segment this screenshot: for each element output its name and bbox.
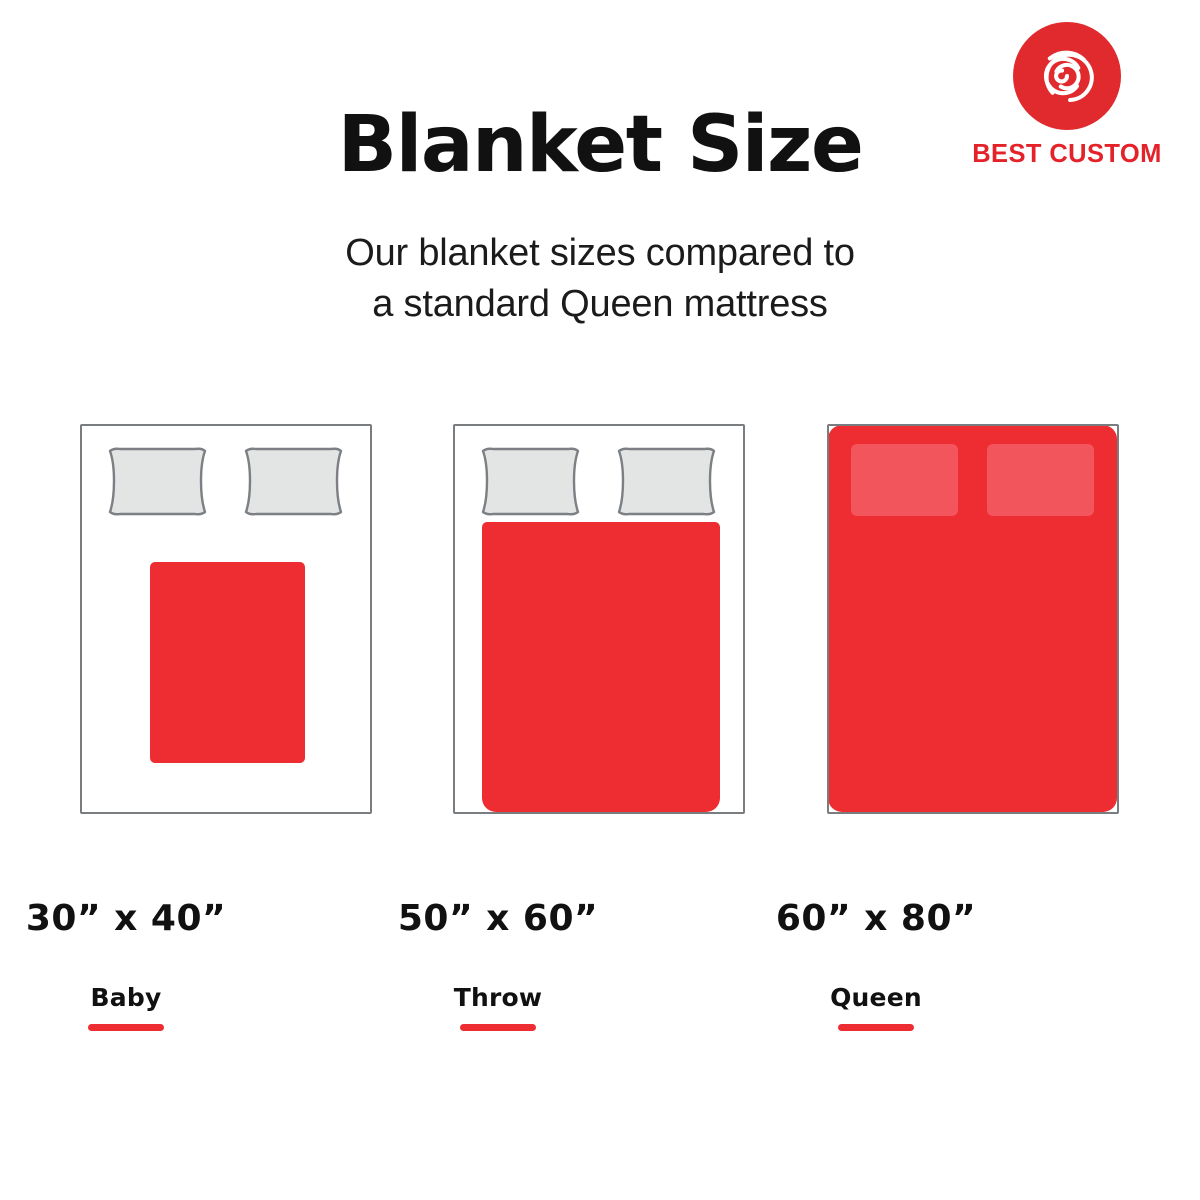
pillow-icon-right-baby — [240, 446, 347, 517]
pillow-icon-left-queen — [851, 444, 958, 516]
bed-diagram-group — [0, 424, 1200, 816]
page-title: Blanket Size — [0, 105, 1200, 187]
mattress-surface-baby — [82, 426, 370, 812]
dimension-text-baby: 30” x 40” — [26, 898, 226, 939]
bed-diagram-queen — [827, 424, 1119, 814]
blanket-overlay-throw — [482, 522, 720, 812]
size-name-queen: Queen — [830, 983, 922, 1012]
size-label-throw: 50” x 60” Throw — [298, 898, 698, 1031]
size-name-baby: Baby — [91, 983, 162, 1012]
pillow-icon-left-baby — [104, 446, 211, 517]
blanket-overlay-queen — [829, 426, 1117, 812]
pillow-icon-left-throw — [477, 446, 584, 517]
underline-accent-queen — [838, 1024, 914, 1031]
size-label-group: 30” x 40” Baby 50” x 60” Throw 60” x 80”… — [0, 898, 1200, 1031]
size-name-throw: Throw — [454, 983, 542, 1012]
dimension-text-throw: 50” x 60” — [398, 898, 598, 939]
mattress-surface-queen — [829, 426, 1117, 812]
bed-diagram-baby — [80, 424, 372, 814]
blanket-overlay-baby — [150, 562, 305, 763]
pillow-icon-right-queen — [987, 444, 1094, 516]
subtitle-line-2: a standard Queen mattress — [0, 279, 1200, 330]
underline-accent-throw — [460, 1024, 536, 1031]
page-subtitle: Our blanket sizes compared to a standard… — [0, 228, 1200, 331]
size-label-baby: 30” x 40” Baby — [0, 898, 326, 1031]
underline-accent-baby — [88, 1024, 164, 1031]
size-label-queen: 60” x 80” Queen — [676, 898, 1076, 1031]
dimension-text-queen: 60” x 80” — [776, 898, 976, 939]
bed-diagram-throw — [453, 424, 745, 814]
pillow-icon-right-throw — [613, 446, 720, 517]
subtitle-line-1: Our blanket sizes compared to — [345, 232, 855, 274]
infographic-canvas: BEST CUSTOM Blanket Size Our blanket siz… — [0, 0, 1200, 1200]
mattress-surface-throw — [455, 426, 743, 812]
